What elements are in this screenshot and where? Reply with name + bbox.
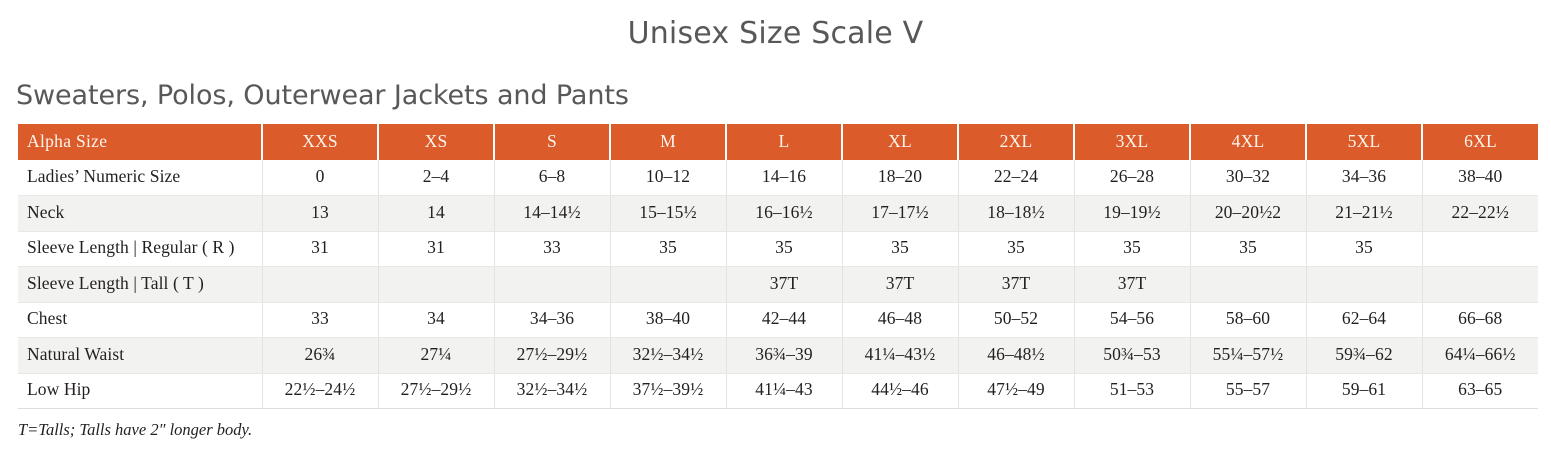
table-row: Natural Waist26¾27¼27½–29½32½–34½36¾–394… [18,338,1538,374]
measurement-cell: 46–48 [842,302,958,338]
measurement-cell: 58–60 [1190,302,1306,338]
measurement-cell: 35 [1306,231,1422,267]
measurement-cell: 35 [842,231,958,267]
column-header-4xl[interactable]: 4XL [1190,124,1306,160]
measurement-cell: 33 [494,231,610,267]
measurement-cell: 27½–29½ [494,338,610,374]
measurement-cell: 17–17½ [842,196,958,232]
measurement-cell [378,267,494,303]
measurement-cell: 22½–24½ [262,373,378,409]
measurement-cell: 31 [378,231,494,267]
table-header-row: Alpha SizeXXSXSSMLXL2XL3XL4XL5XL6XL [18,124,1538,160]
size-chart-table: Alpha SizeXXSXSSMLXL2XL3XL4XL5XL6XL Ladi… [18,124,1538,409]
row-label: Low Hip [18,373,262,409]
measurement-cell: 35 [958,231,1074,267]
measurement-cell: 63–65 [1422,373,1538,409]
measurement-cell: 2–4 [378,160,494,196]
measurement-cell: 34–36 [1306,160,1422,196]
measurement-cell: 54–56 [1074,302,1190,338]
measurement-cell: 20–20½2 [1190,196,1306,232]
measurement-cell: 44½–46 [842,373,958,409]
row-label: Chest [18,302,262,338]
measurement-cell: 26¾ [262,338,378,374]
table-row: Ladies’ Numeric Size02–46–810–1214–1618–… [18,160,1538,196]
section-subtitle: Sweaters, Polos, Outerwear Jackets and P… [16,80,629,111]
measurement-cell: 37T [726,267,842,303]
column-header-3xl[interactable]: 3XL [1074,124,1190,160]
measurement-cell: 34 [378,302,494,338]
measurement-cell: 51–53 [1074,373,1190,409]
table-row: Sleeve Length | Regular ( R )31313335353… [18,231,1538,267]
measurement-cell: 66–68 [1422,302,1538,338]
measurement-cell: 33 [262,302,378,338]
measurement-cell: 37T [958,267,1074,303]
column-header-xl[interactable]: XL [842,124,958,160]
measurement-cell: 59–61 [1306,373,1422,409]
measurement-cell [1190,267,1306,303]
measurement-cell: 50–52 [958,302,1074,338]
measurement-cell: 15–15½ [610,196,726,232]
measurement-cell: 10–12 [610,160,726,196]
measurement-cell [610,267,726,303]
measurement-cell: 21–21½ [1306,196,1422,232]
measurement-cell: 30–32 [1190,160,1306,196]
measurement-cell: 27¼ [378,338,494,374]
measurement-cell [262,267,378,303]
column-header-xs[interactable]: XS [378,124,494,160]
measurement-cell: 26–28 [1074,160,1190,196]
column-header-label[interactable]: Alpha Size [18,124,262,160]
measurement-cell: 35 [610,231,726,267]
measurement-cell: 34–36 [494,302,610,338]
measurement-cell [1306,267,1422,303]
measurement-cell: 32½–34½ [494,373,610,409]
row-label: Neck [18,196,262,232]
column-header-l[interactable]: L [726,124,842,160]
measurement-cell: 14 [378,196,494,232]
page-title: Unisex Size Scale V [0,16,1551,51]
measurement-cell: 42–44 [726,302,842,338]
measurement-cell: 36¾–39 [726,338,842,374]
column-header-6xl[interactable]: 6XL [1422,124,1538,160]
measurement-cell: 55¼–57½ [1190,338,1306,374]
size-table-container: Alpha SizeXXSXSSMLXL2XL3XL4XL5XL6XL Ladi… [18,124,1534,409]
table-footnote: T=Talls; Talls have 2″ longer body. [18,420,252,440]
measurement-cell: 18–20 [842,160,958,196]
measurement-cell: 41¼–43½ [842,338,958,374]
measurement-cell: 35 [726,231,842,267]
measurement-cell: 19–19½ [1074,196,1190,232]
measurement-cell: 31 [262,231,378,267]
measurement-cell: 16–16½ [726,196,842,232]
column-header-s[interactable]: S [494,124,610,160]
measurement-cell: 59¾–62 [1306,338,1422,374]
table-header: Alpha SizeXXSXSSMLXL2XL3XL4XL5XL6XL [18,124,1538,160]
measurement-cell: 13 [262,196,378,232]
measurement-cell: 46–48½ [958,338,1074,374]
measurement-cell: 35 [1074,231,1190,267]
column-header-2xl[interactable]: 2XL [958,124,1074,160]
measurement-cell: 14–14½ [494,196,610,232]
measurement-cell: 18–18½ [958,196,1074,232]
measurement-cell: 22–22½ [1422,196,1538,232]
table-row: Low Hip22½–24½27½–29½32½–34½37½–39½41¼–4… [18,373,1538,409]
measurement-cell: 32½–34½ [610,338,726,374]
measurement-cell: 62–64 [1306,302,1422,338]
measurement-cell [494,267,610,303]
measurement-cell: 14–16 [726,160,842,196]
measurement-cell: 50¾–53 [1074,338,1190,374]
table-row: Neck131414–14½15–15½16–16½17–17½18–18½19… [18,196,1538,232]
measurement-cell: 41¼–43 [726,373,842,409]
measurement-cell: 0 [262,160,378,196]
table-row: Chest333434–3638–4042–4446–4850–5254–565… [18,302,1538,338]
row-label: Sleeve Length | Regular ( R ) [18,231,262,267]
column-header-5xl[interactable]: 5XL [1306,124,1422,160]
column-header-xxs[interactable]: XXS [262,124,378,160]
column-header-m[interactable]: M [610,124,726,160]
measurement-cell: 37T [1074,267,1190,303]
row-label: Ladies’ Numeric Size [18,160,262,196]
measurement-cell: 64¼–66½ [1422,338,1538,374]
measurement-cell: 37T [842,267,958,303]
measurement-cell: 27½–29½ [378,373,494,409]
row-label: Natural Waist [18,338,262,374]
table-row: Sleeve Length | Tall ( T )37T37T37T37T [18,267,1538,303]
measurement-cell: 35 [1190,231,1306,267]
measurement-cell: 22–24 [958,160,1074,196]
measurement-cell: 38–40 [1422,160,1538,196]
measurement-cell: 38–40 [610,302,726,338]
size-chart-page: Unisex Size Scale V Sweaters, Polos, Out… [0,0,1551,452]
measurement-cell: 6–8 [494,160,610,196]
row-label: Sleeve Length | Tall ( T ) [18,267,262,303]
measurement-cell [1422,267,1538,303]
table-body: Ladies’ Numeric Size02–46–810–1214–1618–… [18,160,1538,409]
measurement-cell: 37½–39½ [610,373,726,409]
measurement-cell: 47½–49 [958,373,1074,409]
measurement-cell [1422,231,1538,267]
measurement-cell: 55–57 [1190,373,1306,409]
